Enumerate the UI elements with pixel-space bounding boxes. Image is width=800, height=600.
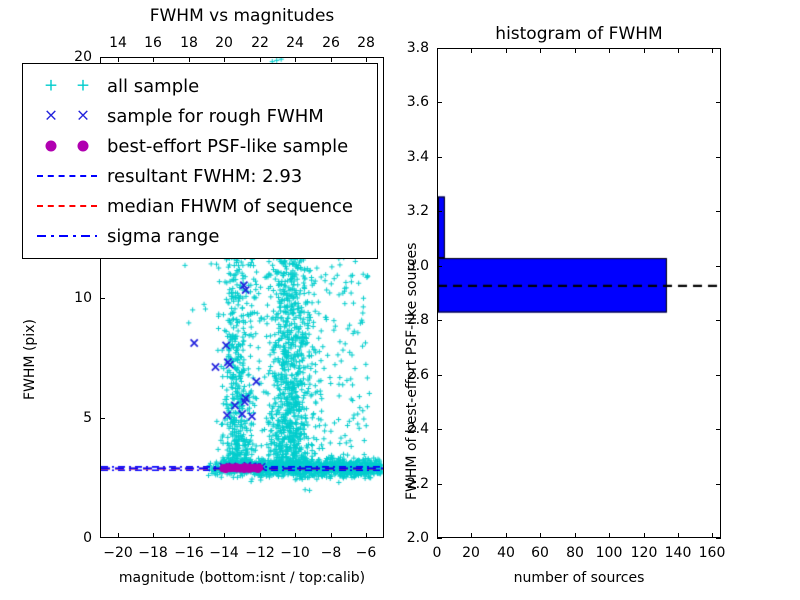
histogram-ytick-mark (437, 48, 442, 49)
histogram-ytick-mark (437, 484, 442, 485)
scatter-xtick-label: −6 (356, 546, 377, 560)
histogram-top-xtick-mark (712, 48, 713, 53)
figure-canvas: FWHM vs magnitudes 1416182022242628 −20−… (0, 0, 800, 600)
histogram-ytick-label: 2.0 (407, 531, 429, 545)
histogram-xtick-mark (609, 533, 610, 538)
scatter-xaxis-label: magnitude (bottom:isnt / top:calib) (119, 571, 365, 585)
legend-item[interactable]: best-effort PSF-like sample (23, 131, 377, 161)
histogram-xtick-label: 140 (665, 546, 692, 560)
dashed-line (31, 194, 103, 218)
scatter-xtick-mark (189, 533, 190, 538)
histogram-right-ytick-mark (716, 211, 721, 212)
scatter-xtick-label: −14 (209, 546, 239, 560)
scatter-xtick-mark (118, 533, 119, 538)
scatter-plot-title: FWHM vs magnitudes (150, 8, 335, 25)
scatter-xtick-mark (331, 533, 332, 538)
histogram-xtick-label: 60 (531, 546, 549, 560)
scatter-yaxis-label: FWHM (pix) (22, 319, 38, 400)
histogram-xtick-mark (506, 533, 507, 538)
circle-marker (31, 134, 103, 158)
histogram-ytick-mark (437, 266, 442, 267)
scatter-top-xtick-mark (189, 57, 190, 62)
scatter-xtick-mark (224, 533, 225, 538)
cross-marker: × (76, 108, 90, 125)
histogram-top-xtick-mark (644, 48, 645, 53)
histogram-xtick-mark (644, 533, 645, 538)
plus-marker: + (76, 78, 90, 95)
scatter-xtick-label: −20 (103, 546, 133, 560)
histogram-ytick-mark (437, 211, 442, 212)
scatter-top-xtick-mark (331, 57, 332, 62)
histogram-right-ytick-mark (716, 266, 721, 267)
histogram-top-xtick-mark (678, 48, 679, 53)
histogram-xtick-label: 0 (433, 546, 442, 560)
scatter-xtick-mark (295, 533, 296, 538)
histogram-ytick-mark (437, 375, 442, 376)
dashdot-line (31, 224, 103, 248)
scatter-top-xtick-mark (224, 57, 225, 62)
histogram-right-ytick-mark (716, 48, 721, 49)
scatter-top-xtick-label: 28 (357, 36, 375, 50)
scatter-top-xtick-label: 18 (180, 36, 198, 50)
histogram-top-xtick-mark (575, 48, 576, 53)
legend-item-label: all sample (107, 76, 199, 97)
histogram-right-ytick-mark (716, 102, 721, 103)
histogram-xtick-mark (678, 533, 679, 538)
histogram-top-xtick-mark (540, 48, 541, 53)
scatter-xtick-label: −18 (138, 546, 168, 560)
scatter-xtick-label: −16 (174, 546, 204, 560)
scatter-top-xtick-label: 16 (144, 36, 162, 50)
scatter-top-xtick-label: 24 (286, 36, 304, 50)
histogram-right-ytick-mark (716, 157, 721, 158)
histogram-data-layer (438, 49, 721, 538)
histogram-right-ytick-mark (716, 375, 721, 376)
legend-item[interactable]: resultant FWHM: 2.93 (23, 161, 377, 191)
histogram-xtick-label: 40 (497, 546, 515, 560)
histogram-xtick-mark (471, 533, 472, 538)
scatter-ytick-mark (100, 418, 105, 419)
plus-marker: ++ (31, 74, 103, 98)
scatter-top-xtick-mark (366, 57, 367, 62)
scatter-top-xtick-label: 20 (215, 36, 233, 50)
histogram-right-ytick-mark (716, 429, 721, 430)
histogram-top-xtick-mark (471, 48, 472, 53)
scatter-xtick-mark (366, 533, 367, 538)
histogram-ytick-label: 3.2 (407, 204, 429, 218)
dashed-line (37, 205, 97, 207)
cross-marker: × (44, 108, 58, 125)
legend-item-label: sample for rough FWHM (107, 106, 324, 127)
scatter-top-xtick-label: 14 (109, 36, 127, 50)
circle-marker (46, 141, 57, 152)
histogram-xaxis-label: number of sources (514, 571, 645, 585)
scatter-ytick-label: 10 (74, 291, 92, 305)
scatter-xtick-label: −8 (321, 546, 342, 560)
dashdot-line (37, 235, 97, 237)
legend-item-label: best-effort PSF-like sample (107, 136, 348, 157)
scatter-top-xtick-label: 22 (251, 36, 269, 50)
histogram-right-ytick-mark (716, 538, 721, 539)
histogram-ytick-mark (437, 429, 442, 430)
histogram-ytick-mark (437, 320, 442, 321)
histogram-xtick-mark (575, 533, 576, 538)
histogram-ytick-mark (437, 157, 442, 158)
scatter-xtick-label: −10 (280, 546, 310, 560)
legend-item-label: median FHWM of sequence (107, 196, 353, 217)
histogram-xtick-label: 160 (699, 546, 726, 560)
legend-item-label: resultant FWHM: 2.93 (107, 166, 302, 187)
histogram-xtick-label: 20 (462, 546, 480, 560)
scatter-ytick-label: 20 (74, 50, 92, 64)
legend-item[interactable]: median FHWM of sequence (23, 191, 377, 221)
plus-marker: + (44, 78, 58, 95)
circle-marker (78, 141, 89, 152)
legend-item[interactable]: ++all sample (23, 71, 377, 101)
scatter-top-xtick-mark (118, 57, 119, 62)
histogram-yaxis-label: FWHM of best-effort PSF-like sources (404, 243, 420, 500)
histogram-right-ytick-mark (716, 320, 721, 321)
histogram-top-xtick-mark (609, 48, 610, 53)
scatter-xtick-mark (153, 533, 154, 538)
histogram-ytick-mark (437, 538, 442, 539)
histogram-ytick-label: 3.6 (407, 95, 429, 109)
histogram-xtick-label: 100 (596, 546, 623, 560)
scatter-top-xtick-mark (153, 57, 154, 62)
histogram-ytick-label: 3.8 (407, 41, 429, 55)
histogram-ytick-mark (437, 102, 442, 103)
histogram-xtick-label: 120 (631, 546, 658, 560)
scatter-top-xtick-label: 26 (322, 36, 340, 50)
histogram-right-ytick-mark (716, 484, 721, 485)
histogram-title: histogram of FWHM (495, 26, 662, 43)
legend-box[interactable]: ++all sample××sample for rough FWHMbest-… (22, 63, 378, 259)
scatter-ytick-label: 0 (83, 531, 92, 545)
histogram-axes[interactable] (437, 48, 721, 538)
scatter-top-xtick-mark (260, 57, 261, 62)
scatter-xtick-label: −12 (245, 546, 275, 560)
cross-marker: ×× (31, 104, 103, 128)
dashed-line (31, 164, 103, 188)
histogram-xtick-label: 80 (566, 546, 584, 560)
histogram-top-xtick-mark (506, 48, 507, 53)
histogram-xtick-mark (540, 533, 541, 538)
histogram-xtick-mark (712, 533, 713, 538)
legend-item[interactable]: sigma range (23, 221, 377, 251)
legend-item-label: sigma range (107, 226, 219, 247)
scatter-ytick-mark (100, 298, 105, 299)
legend-item[interactable]: ××sample for rough FWHM (23, 101, 377, 131)
scatter-top-xtick-mark (295, 57, 296, 62)
dashed-line (37, 175, 97, 177)
scatter-xtick-mark (260, 533, 261, 538)
scatter-ytick-label: 5 (83, 411, 92, 425)
histogram-ytick-label: 3.4 (407, 150, 429, 164)
